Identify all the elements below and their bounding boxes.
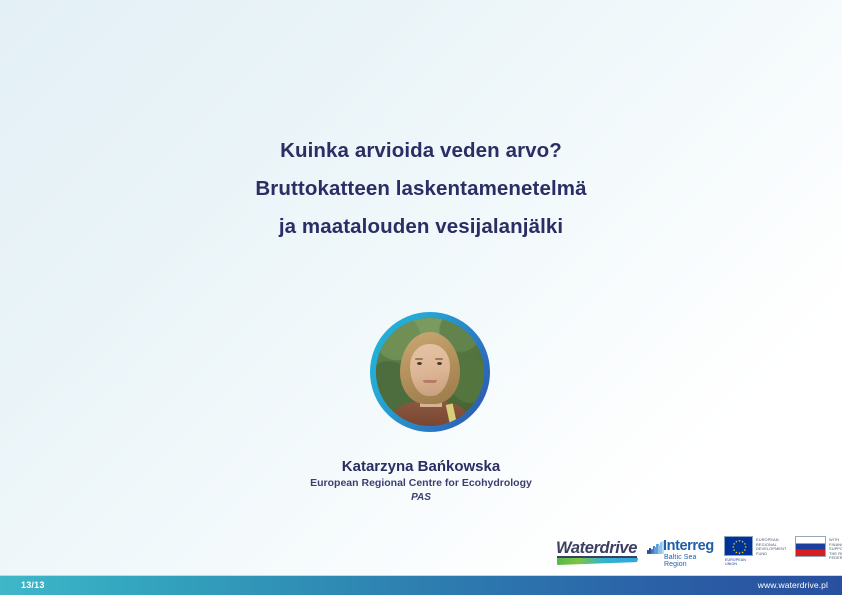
interreg-logo: Interreg Baltic Sea Region xyxy=(647,536,717,568)
russian-support-label: WITH FINANCIAL SUPPORT OF THE RUSSIAN FE… xyxy=(829,536,842,561)
slide-footer-bar: 13/13 www.waterdrive.pl xyxy=(0,575,842,595)
slide-title: Kuinka arvioida veden arvo? Bruttokattee… xyxy=(0,132,842,246)
eu-star-icon xyxy=(744,543,747,546)
eu-flag-icon: EUROPEAN UNION xyxy=(724,536,753,556)
speaker-photo xyxy=(376,318,484,426)
eu-star-icon xyxy=(732,546,735,549)
speaker-organization-sub: PAS xyxy=(0,491,842,505)
eu-star-icon xyxy=(735,551,738,554)
eu-star-icon xyxy=(741,540,744,543)
eu-star-icon xyxy=(744,546,747,549)
photo-eyebrow-left xyxy=(415,358,423,360)
eu-star-icon xyxy=(735,540,738,543)
speaker-organization: European Regional Centre for Ecohydrolog… xyxy=(0,476,842,491)
interreg-logo-text: Interreg xyxy=(663,538,714,554)
waterdrive-logo-swoosh-icon xyxy=(557,558,638,565)
presentation-slide: Kuinka arvioida veden arvo? Bruttokattee… xyxy=(0,0,842,595)
eu-star-icon xyxy=(733,549,736,552)
russian-flag-icon xyxy=(795,536,826,557)
speaker-info: Katarzyna Bańkowska European Regional Ce… xyxy=(0,457,842,505)
interreg-wave-icon xyxy=(647,540,664,554)
page-number: 13/13 xyxy=(21,580,45,590)
title-line-3: ja maatalouden vesijalanjälki xyxy=(0,208,842,246)
eu-star-icon xyxy=(744,549,747,552)
footer-url: www.waterdrive.pl xyxy=(758,580,828,590)
eu-union-label: EUROPEAN UNION xyxy=(725,558,757,566)
title-line-2: Bruttokatteen laskentamenetelmä xyxy=(0,170,842,208)
eu-star-icon xyxy=(741,551,744,554)
speaker-avatar-ring xyxy=(370,312,490,432)
eu-star-icon xyxy=(738,552,741,555)
title-line-1: Kuinka arvioida veden arvo? xyxy=(0,132,842,170)
eu-star-icon xyxy=(733,543,736,546)
photo-eyebrow-right xyxy=(435,358,443,360)
eu-fund-label: EUROPEAN REGIONAL DEVELOPMENT FUND xyxy=(756,536,786,556)
russian-federation-logo: WITH FINANCIAL SUPPORT OF THE RUSSIAN FE… xyxy=(795,536,842,568)
european-union-logo: EUROPEAN UNION EUROPEAN REGIONAL DEVELOP… xyxy=(724,536,788,568)
photo-mouth xyxy=(423,380,437,383)
waterdrive-logo-underline xyxy=(557,556,637,558)
eu-star-icon xyxy=(738,540,741,543)
waterdrive-logo: Waterdrive xyxy=(556,536,640,568)
logo-strip: Waterdrive Interreg Baltic Sea Region EU… xyxy=(556,533,838,571)
speaker-name: Katarzyna Bańkowska xyxy=(0,457,842,476)
interreg-logo-subtitle: Baltic Sea Region xyxy=(664,554,717,568)
photo-eye-left xyxy=(417,362,422,365)
photo-eye-right xyxy=(437,362,442,365)
